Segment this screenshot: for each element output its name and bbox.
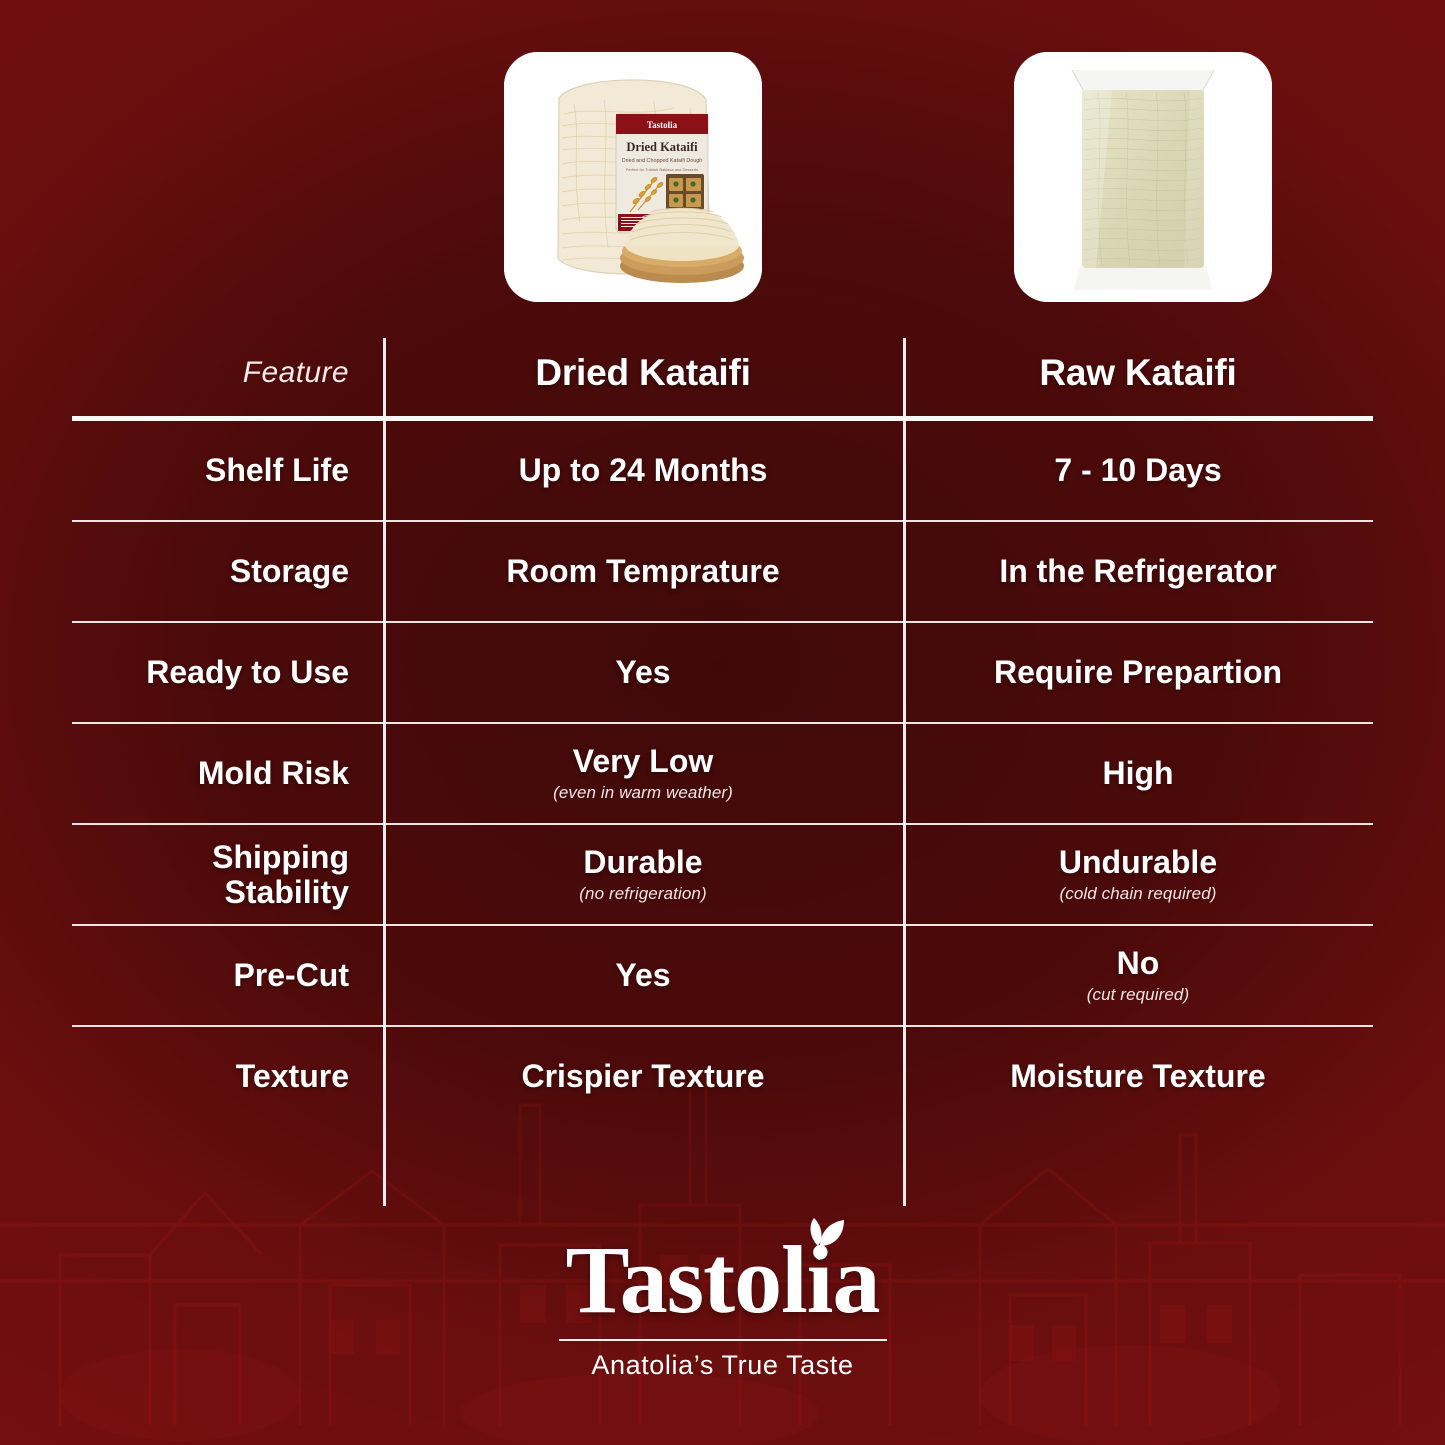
row-value-note: (cut required) [1087, 985, 1190, 1005]
row-value-note: (no refrigeration) [579, 884, 706, 904]
svg-text:Dried Kataifi: Dried Kataifi [626, 140, 698, 154]
svg-text:Perfect for Turkish Baklava an: Perfect for Turkish Baklava and Desserts [626, 167, 698, 172]
comparison-table: Feature Dried Kataifi Raw Kataifi Shelf … [72, 330, 1373, 1126]
brand-tagline: Anatolia’s True Taste [591, 1350, 853, 1381]
product-image-raw-kataifi [1014, 52, 1272, 302]
row-value-dried: Durable (no refrigeration) [383, 845, 903, 905]
row-value-text: Undurable [1059, 845, 1217, 880]
row-value-raw: In the Refrigerator [903, 554, 1373, 589]
header-cell-raw: Raw Kataifi [903, 352, 1373, 394]
row-label: Ready to Use [146, 655, 349, 690]
row-label-cell: Shelf Life [72, 453, 383, 488]
row-value-dried: Yes [383, 655, 903, 690]
svg-text:Tastolia: Tastolia [647, 120, 678, 130]
row-value-raw: Undurable (cold chain required) [903, 845, 1373, 905]
row-value-text: Room Temprature [506, 554, 779, 589]
row-value-text: Yes [615, 655, 670, 690]
row-value-raw: 7 - 10 Days [903, 453, 1373, 488]
row-label-cell: Texture [72, 1059, 383, 1094]
row-value-text: High [1102, 756, 1173, 791]
table-row: Pre-Cut Yes No (cut required) [72, 926, 1373, 1025]
row-value-text: Moisture Texture [1010, 1059, 1265, 1094]
row-value-text: Crispier Texture [521, 1059, 764, 1094]
row-value-text: Very Low [573, 744, 714, 779]
row-value-raw: High [903, 756, 1373, 791]
table-row: Mold Risk Very Low (even in warm weather… [72, 724, 1373, 823]
row-label: Texture [236, 1059, 349, 1094]
product-images: Tastolia Dried Kataifi Dried and Chopped… [0, 52, 1445, 302]
table-header-row: Feature Dried Kataifi Raw Kataifi [72, 330, 1373, 416]
brand-divider [559, 1339, 887, 1341]
row-label: Mold Risk [198, 756, 349, 791]
row-label-cell: Storage [72, 554, 383, 589]
row-label: Shipping Stability [84, 840, 349, 909]
header-cell-feature: Feature [72, 356, 383, 390]
row-label: Shelf Life [205, 453, 349, 488]
row-value-dried: Yes [383, 958, 903, 993]
header-label-feature: Feature [243, 356, 349, 390]
row-label: Pre-Cut [233, 958, 349, 993]
row-label-cell: Ready to Use [72, 655, 383, 690]
brand-logo: Tastolia Anatolia’s True Taste [0, 1232, 1445, 1381]
row-value-text: 7 - 10 Days [1054, 453, 1221, 488]
row-label-cell: Pre-Cut [72, 958, 383, 993]
row-value-dried: Room Temprature [383, 554, 903, 589]
row-value-note: (cold chain required) [1059, 884, 1216, 904]
table-row: Storage Room Temprature In the Refrigera… [72, 522, 1373, 621]
row-label-cell: Shipping Stability [72, 840, 383, 909]
row-label: Storage [230, 554, 349, 589]
table-row: Texture Crispier Texture Moisture Textur… [72, 1027, 1373, 1126]
header-label-dried: Dried Kataifi [535, 352, 750, 394]
row-value-text: In the Refrigerator [999, 554, 1276, 589]
header-cell-dried: Dried Kataifi [383, 352, 903, 394]
row-value-note: (even in warm weather) [553, 783, 733, 803]
product-image-dried-kataifi: Tastolia Dried Kataifi Dried and Chopped… [504, 52, 762, 302]
brand-name: Tastolia [566, 1232, 880, 1328]
table-row: Shelf Life Up to 24 Months 7 - 10 Days [72, 421, 1373, 520]
row-value-dried: Up to 24 Months [383, 453, 903, 488]
table-row: Shipping Stability Durable (no refrigera… [72, 825, 1373, 924]
row-label-cell: Mold Risk [72, 756, 383, 791]
row-value-raw: No (cut required) [903, 946, 1373, 1006]
row-value-text: Up to 24 Months [519, 453, 768, 488]
table-row: Ready to Use Yes Require Prepartion [72, 623, 1373, 722]
row-value-raw: Require Prepartion [903, 655, 1373, 690]
infographic-canvas: Tastolia Dried Kataifi Dried and Chopped… [0, 0, 1445, 1445]
row-value-raw: Moisture Texture [903, 1059, 1373, 1094]
row-value-dried: Very Low (even in warm weather) [383, 744, 903, 804]
svg-text:Dried and Chopped Kataifi Doug: Dried and Chopped Kataifi Dough [622, 158, 703, 164]
row-value-text: No [1117, 946, 1160, 981]
row-value-text: Yes [615, 958, 670, 993]
row-value-text: Require Prepartion [994, 655, 1282, 690]
row-value-dried: Crispier Texture [383, 1059, 903, 1094]
row-value-text: Durable [583, 845, 702, 880]
header-label-raw: Raw Kataifi [1039, 352, 1236, 394]
